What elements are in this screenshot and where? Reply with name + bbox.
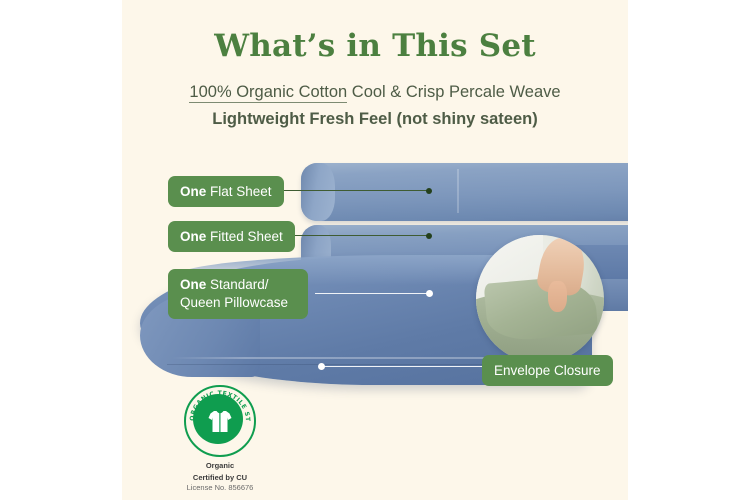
leader-line-pillowcase (315, 293, 429, 294)
label-fitted-sheet-qty: One (180, 229, 206, 244)
label-pillowcase[interactable]: One Standard/ Queen Pillowcase (168, 269, 308, 319)
label-pillowcase-qty: One (180, 277, 206, 292)
label-pillowcase-line-2: Queen Pillowcase (180, 294, 296, 312)
gots-license-number: License No. 856676 (160, 483, 280, 492)
leader-line-envelope-closure (322, 366, 484, 367)
label-fitted-sheet[interactable]: One Fitted Sheet (168, 221, 295, 252)
leader-dot-flat-sheet (426, 188, 432, 194)
inset-hand (548, 281, 567, 312)
infographic-canvas: What’s in This Set 100% Organic Cotton C… (0, 0, 750, 500)
label-envelope-closure[interactable]: Envelope Closure (482, 355, 613, 386)
page-title: What’s in This Set (122, 28, 628, 64)
leader-dot-pillowcase (426, 290, 433, 297)
label-flat-sheet-text: Flat Sheet (206, 184, 271, 199)
label-pillowcase-line-1: One Standard/ (180, 276, 296, 294)
flat-sheet-seam (457, 169, 459, 213)
subtitle-line-1-rest: Cool & Crisp Percale Weave (347, 83, 560, 101)
leader-dot-fitted-sheet (426, 233, 432, 239)
leader-line-fitted-sheet (292, 235, 428, 236)
label-flat-sheet-qty: One (180, 184, 206, 199)
label-fitted-sheet-text: Fitted Sheet (206, 229, 283, 244)
subtitle-line-2: Lightweight Fresh Feel (not shiny sateen… (122, 110, 628, 129)
subtitle-line-1: 100% Organic Cotton Cool & Crisp Percale… (122, 83, 628, 102)
label-envelope-closure-text: Envelope Closure (494, 363, 601, 378)
organic-cotton-emphasis: 100% Organic Cotton (189, 83, 347, 103)
leader-dot-envelope-closure (318, 363, 325, 370)
envelope-closure-inset-photo (476, 235, 604, 363)
gots-certified-by: Certified by CU (160, 473, 280, 482)
label-flat-sheet[interactable]: One Flat Sheet (168, 176, 284, 207)
tshirt-icon (203, 404, 237, 438)
gots-logo: GLOBAL ORGANIC TEXTILE STANDARD · GOTS · (184, 385, 256, 457)
gots-certification-badge: GLOBAL ORGANIC TEXTILE STANDARD · GOTS ·… (160, 385, 280, 492)
flat-sheet-roll-edge (301, 163, 335, 221)
flat-sheet-fold (301, 163, 628, 221)
content-panel: What’s in This Set 100% Organic Cotton C… (122, 0, 628, 500)
label-pillowcase-text-1: Standard/ (206, 277, 268, 292)
gots-organic-label: Organic (160, 461, 280, 470)
